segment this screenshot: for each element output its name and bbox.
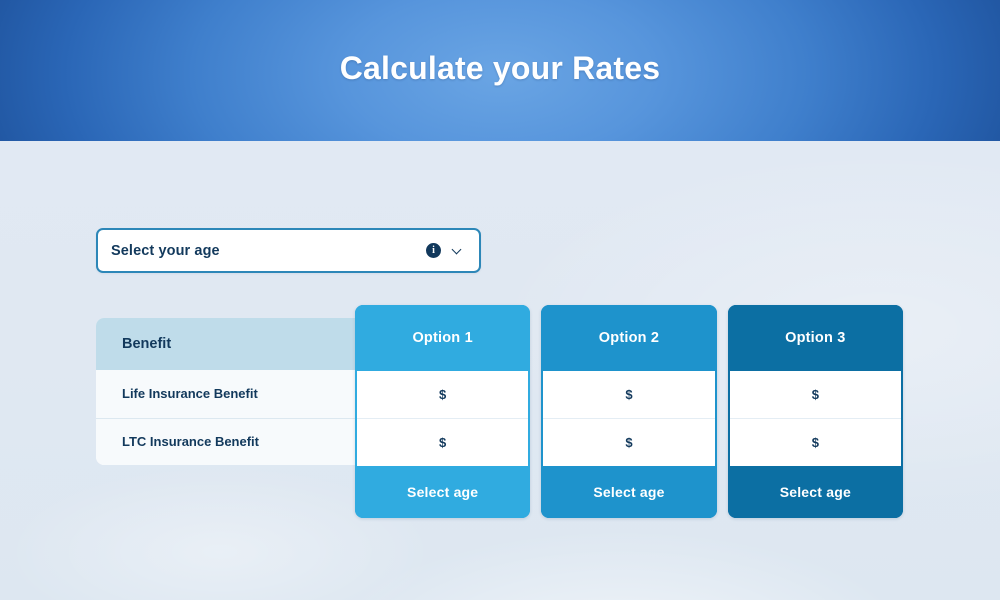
age-select-dropdown[interactable]: Select your age i <box>96 228 481 273</box>
option-1-life-value: $ <box>357 371 528 418</box>
page-title: Calculate your Rates <box>0 50 1000 87</box>
option-card-2: Option 2 $ $ Select age <box>541 305 716 518</box>
table-row: Life Insurance Benefit <box>96 370 396 418</box>
option-card-1-title: Option 1 <box>355 305 530 371</box>
option-card-1: Option 1 $ $ Select age <box>355 305 530 518</box>
table-row: LTC Insurance Benefit <box>96 418 396 466</box>
option-3-life-value: $ <box>730 371 901 418</box>
info-icon[interactable]: i <box>426 243 441 258</box>
option-card-3-cells: $ $ <box>728 371 903 466</box>
option-3-ltc-value: $ <box>730 418 901 466</box>
benefit-row-label-life: Life Insurance Benefit <box>122 386 258 401</box>
option-card-1-cells: $ $ <box>355 371 530 466</box>
option-2-ltc-value: $ <box>543 418 714 466</box>
option-1-select-age-button[interactable]: Select age <box>355 466 530 518</box>
benefit-table: Benefit Life Insurance Benefit LTC Insur… <box>96 318 396 465</box>
option-card-2-title: Option 2 <box>541 305 716 371</box>
benefit-table-header: Benefit <box>96 318 396 370</box>
option-cards-group: Option 1 $ $ Select age Option 2 $ $ Sel… <box>355 305 903 518</box>
header-banner: Calculate your Rates <box>0 0 1000 141</box>
option-2-select-age-button[interactable]: Select age <box>541 466 716 518</box>
benefit-row-label-ltc: LTC Insurance Benefit <box>122 434 259 449</box>
option-3-select-age-button[interactable]: Select age <box>728 466 903 518</box>
page-background: Calculate your Rates Select your age i B… <box>0 0 1000 600</box>
option-card-3-title: Option 3 <box>728 305 903 371</box>
option-card-3: Option 3 $ $ Select age <box>728 305 903 518</box>
age-select-label: Select your age <box>111 243 426 259</box>
benefit-column-header-label: Benefit <box>122 336 171 352</box>
chevron-down-icon[interactable] <box>452 245 463 256</box>
option-1-ltc-value: $ <box>357 418 528 466</box>
option-card-2-cells: $ $ <box>541 371 716 466</box>
option-2-life-value: $ <box>543 371 714 418</box>
